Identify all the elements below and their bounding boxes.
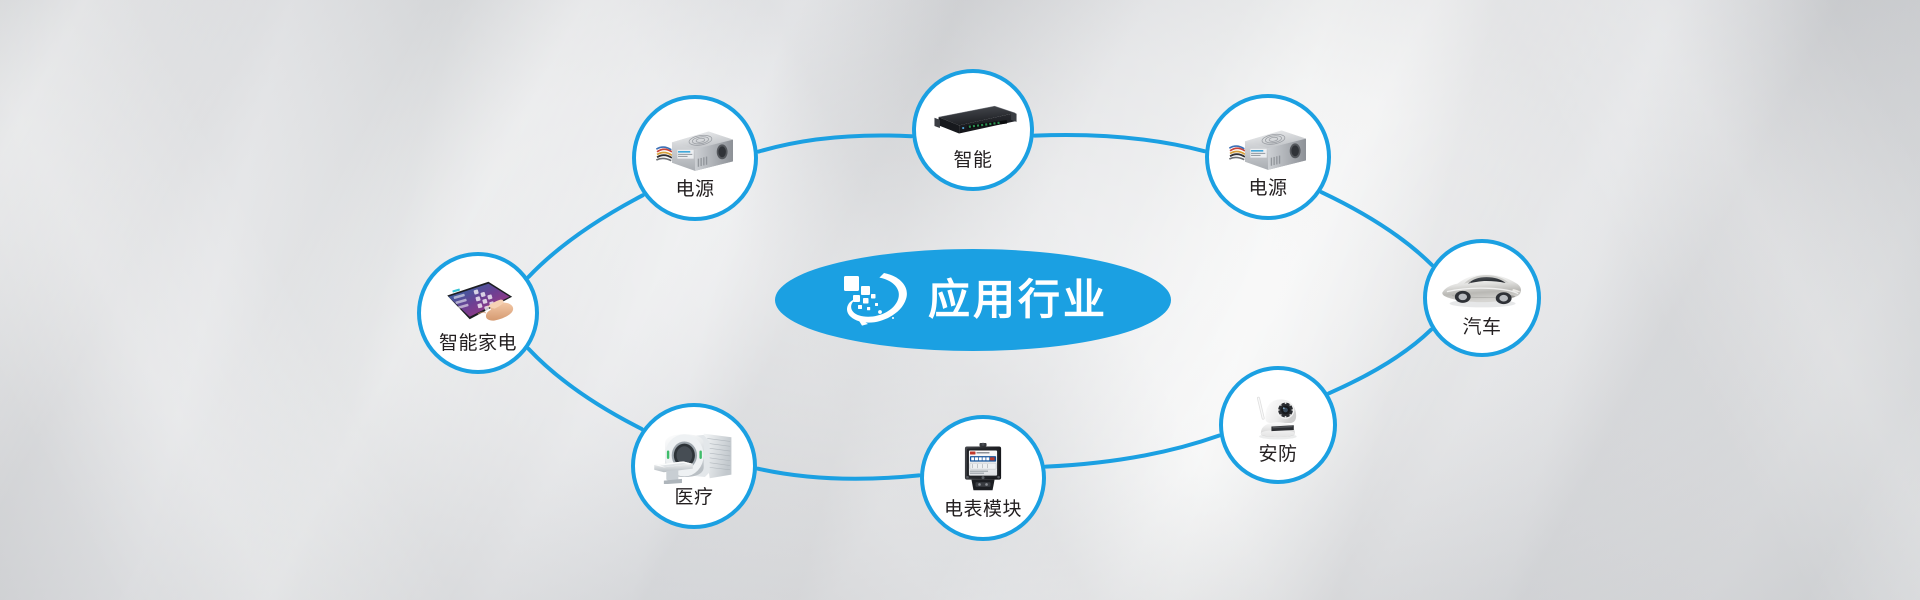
center-badge[interactable]: 应用行业 <box>775 249 1171 351</box>
tablet-touch-icon <box>434 278 523 330</box>
node-label: 电源 <box>675 180 714 199</box>
node-automotive[interactable]: 汽车 <box>1423 239 1541 357</box>
sports-car-icon <box>1439 263 1525 314</box>
ip-camera-icon <box>1235 390 1321 441</box>
node-label: 医疗 <box>674 488 713 507</box>
center-badge-label: 应用行业 <box>928 279 1108 321</box>
node-label: 智能 <box>953 151 992 170</box>
node-label: 电源 <box>1248 179 1287 198</box>
rack-server-icon <box>929 95 1018 147</box>
node-medical[interactable]: 医疗 <box>631 403 757 529</box>
mri-scanner-icon <box>648 430 740 484</box>
node-label: 智能家电 <box>439 334 517 353</box>
application-industries-infographic: 智能家电 <box>0 0 1920 600</box>
node-smart-home-appliance[interactable]: 智能家电 <box>417 252 539 374</box>
orbit-pixel-logo-icon <box>838 269 914 331</box>
electric-meter-icon <box>937 442 1029 496</box>
node-power-supply-left[interactable]: 电源 <box>632 95 758 221</box>
node-label: 汽车 <box>1462 318 1501 337</box>
pc-power-supply-icon <box>1222 121 1314 175</box>
node-label: 安防 <box>1258 445 1297 464</box>
node-smart-device[interactable]: 智能 <box>912 69 1034 191</box>
node-security[interactable]: 安防 <box>1219 366 1337 484</box>
node-meter-module[interactable]: 电表模块 <box>920 415 1046 541</box>
node-label: 电表模块 <box>944 500 1022 519</box>
node-power-supply-right[interactable]: 电源 <box>1205 94 1331 220</box>
pc-power-supply-icon <box>649 122 741 176</box>
